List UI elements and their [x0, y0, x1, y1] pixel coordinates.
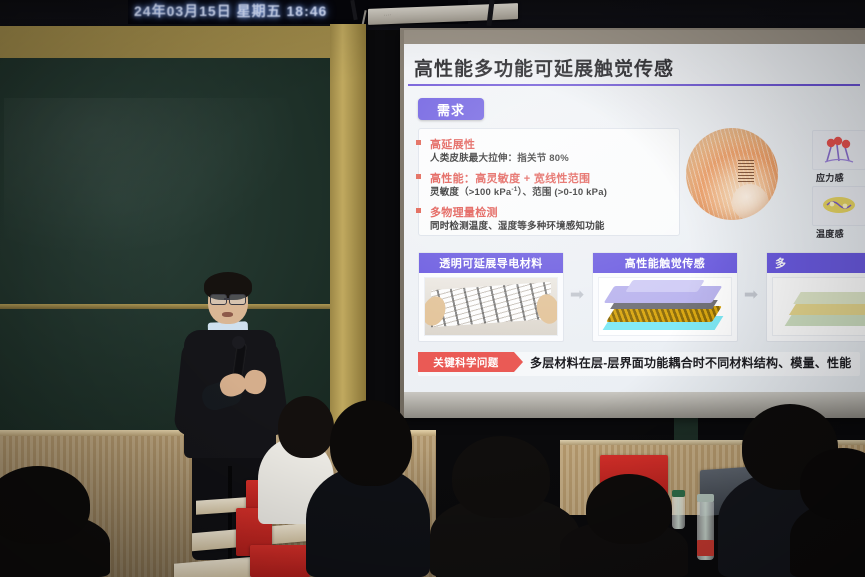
bottle-cap-green: [672, 490, 685, 497]
glasses-lens-right-icon: [229, 294, 246, 305]
lecture-hall-photo: 24年03月15日 星期五 18:46 ···· 高性能多功能可延展触觉传感 需…: [0, 0, 865, 577]
bullet-2-sub-a: 灵敏度（>100 kPa: [430, 187, 511, 198]
thermoreceptor-icon: [819, 191, 859, 219]
key-question-tag: 关键科学问题: [418, 352, 514, 372]
conductive-mesh-photo: [425, 278, 557, 335]
device-label: ····: [384, 12, 391, 17]
mini-panel-temperature: [812, 186, 865, 226]
presentation-slide: 高性能多功能可延展触觉传感 需求 高延展性 人类皮肤最大拉伸：指关节 80% 高…: [404, 44, 865, 392]
chalkboard-side-frame: [330, 24, 366, 442]
glasses-lens-left-icon: [210, 294, 227, 305]
mesh-conductive-lines: [431, 282, 551, 327]
bullet-square-icon: [416, 208, 421, 213]
title-underline: [408, 84, 860, 86]
nerve-receptor-icon: [819, 135, 859, 163]
key-question-banner: 关键科学问题 多层材料在层-层界面功能耦合时不同材料结构、模量、性能: [418, 352, 860, 376]
mini-panel-stress-label: 应力感: [816, 171, 844, 184]
seat-back-a: [250, 545, 310, 577]
glasses-bridge-icon: [224, 298, 230, 300]
presenter-mouth: [222, 312, 233, 317]
flow-box-1-header: 透明可延展导电材料: [419, 253, 563, 273]
flow-box-2-image: [598, 277, 732, 336]
bottle-cap-white: [697, 494, 714, 502]
bullet-2-subtext: 灵敏度（>100 kPa-1）、范围 (>0-10 kPa): [430, 184, 607, 198]
led-clock-text: 24年03月15日 星期五 18:46: [134, 1, 327, 21]
flow-box-2: 高性能触觉传感: [592, 252, 738, 342]
flow-arrow-1-icon: ➡: [569, 287, 585, 303]
skin-sensor-photo: [686, 128, 778, 220]
bullet-square-icon: [416, 174, 421, 179]
screen-top-band: [404, 30, 865, 44]
audience-head-white-shirt: [278, 396, 334, 458]
chalkboard-glare: [4, 98, 304, 258]
flow-arrow-2-icon: ➡: [743, 287, 759, 303]
audience-head-mid: [452, 436, 550, 518]
water-bottle-small: [672, 495, 685, 529]
flow-box-1: 透明可延展导电材料: [418, 252, 564, 342]
flow-box-3: 多: [766, 252, 865, 342]
bullet-square-icon: [416, 140, 421, 145]
requirement-badge: 需求: [418, 98, 484, 120]
microphone-head-icon: [232, 336, 245, 349]
slide-title: 高性能多功能可延展触觉传感: [414, 54, 674, 81]
audience-head-center: [330, 400, 412, 486]
audience-head-right-1: [586, 474, 672, 544]
mini-panel-temperature-label: 温度感: [816, 227, 844, 240]
flow-box-3-header: 多: [767, 253, 865, 273]
flow-box-2-header: 高性能触觉传感: [593, 253, 737, 273]
bullet-2-sub-b: ）、范围 (>0-10 kPa): [518, 187, 608, 198]
flow-box-1-image: [424, 277, 558, 336]
key-question-text: 多层材料在层-层界面功能耦合时不同材料结构、模量、性能: [530, 354, 851, 371]
bottle-label: [697, 540, 714, 556]
flow-box-3-image: [772, 277, 865, 336]
mini-panel-stress: [812, 130, 865, 170]
bullet-1-subtext: 人类皮肤最大拉伸：指关节 80%: [430, 150, 569, 164]
layer-top-film: [625, 280, 704, 292]
photo-vignette: [686, 128, 778, 220]
bullet-3-subtext: 同时检测温度、湿度等多种环境感知功能: [430, 218, 605, 232]
stack-layer-c: [793, 292, 865, 304]
